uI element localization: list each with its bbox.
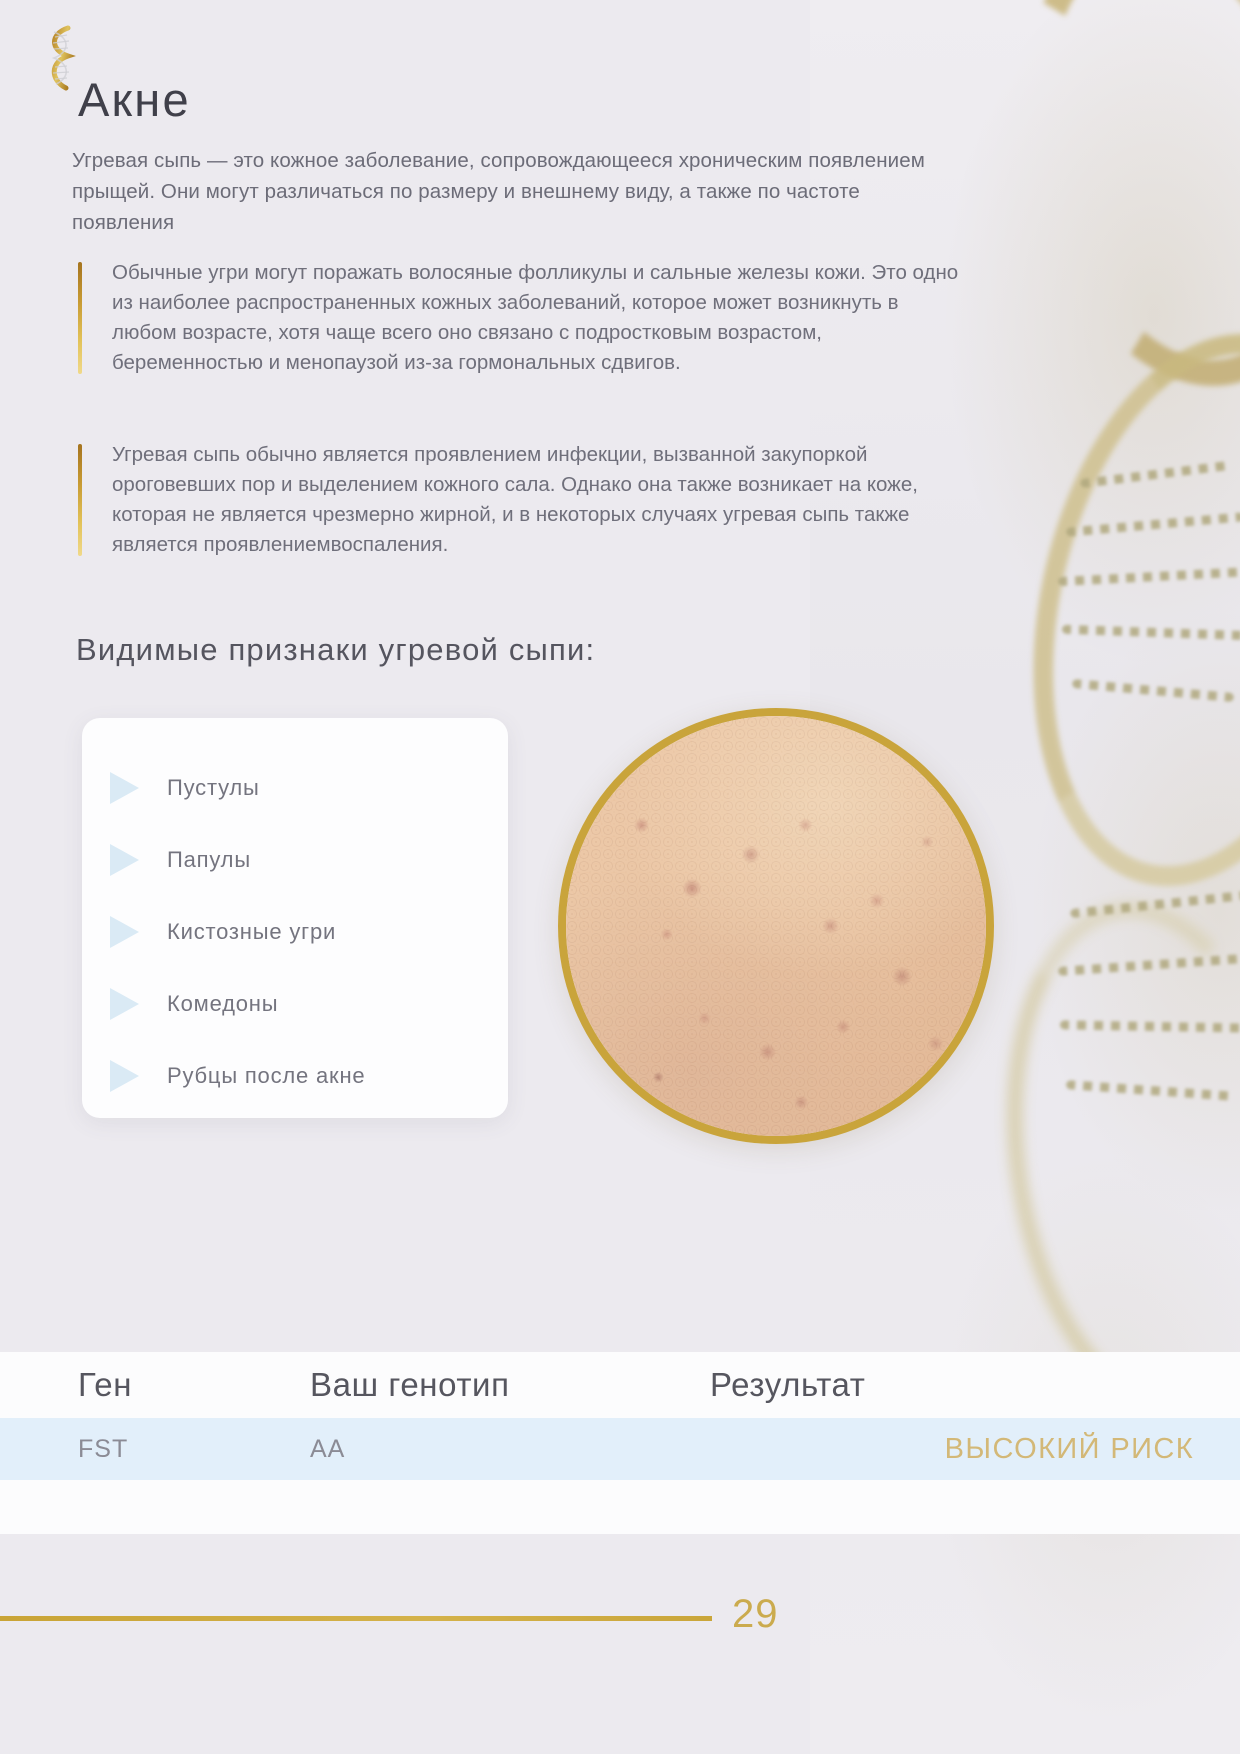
dna-rung-icon bbox=[1066, 512, 1240, 536]
list-item: Пустулы bbox=[82, 752, 508, 824]
page-number: 29 bbox=[732, 1592, 779, 1637]
dna-helix-logo bbox=[40, 22, 82, 98]
dna-rung-icon bbox=[1072, 679, 1234, 702]
list-item: Кистозные угри bbox=[82, 896, 508, 968]
quote-text: Угревая сыпь обычно является проявлением… bbox=[112, 443, 918, 556]
footer-divider bbox=[0, 1616, 712, 1621]
page-footer: 29 bbox=[0, 1520, 1240, 1754]
status-badge: ВЫСОКИЙ РИСК bbox=[710, 1433, 1240, 1466]
triangle-right-icon bbox=[110, 988, 139, 1020]
dna-rung-icon bbox=[1070, 891, 1240, 918]
dna-rung-icon bbox=[1080, 461, 1230, 488]
cell-gene: FST bbox=[0, 1435, 310, 1464]
dna-rung-icon bbox=[1058, 953, 1240, 976]
quote-block-1: Обычные угри могут поражать волосяные фо… bbox=[78, 258, 968, 378]
column-header-result: Результат bbox=[710, 1366, 1240, 1404]
dna-rung-icon bbox=[1058, 567, 1240, 586]
column-header-gene: Ген bbox=[0, 1366, 310, 1404]
skin-grain-overlay bbox=[566, 716, 986, 1136]
dna-rung-icon bbox=[1066, 1080, 1236, 1101]
triangle-right-icon bbox=[110, 1060, 139, 1092]
dna-rung-icon bbox=[1060, 1020, 1240, 1032]
symptom-label: Рубцы после акне bbox=[167, 1063, 365, 1089]
symptom-label: Комедоны bbox=[167, 991, 278, 1017]
symptom-label: Кистозные угри bbox=[167, 919, 336, 945]
symptom-label: Пустулы bbox=[167, 775, 260, 801]
symptom-label: Папулы bbox=[167, 847, 251, 873]
page-title: Акне bbox=[78, 76, 191, 123]
quote-block-2: Угревая сыпь обычно является проявлением… bbox=[78, 440, 968, 560]
dna-strand-icon bbox=[978, 0, 1240, 419]
column-header-genotype: Ваш генотип bbox=[310, 1366, 710, 1404]
quote-text: Обычные угри могут поражать волосяные фо… bbox=[112, 261, 958, 374]
acne-skin-photo bbox=[558, 708, 994, 1144]
dna-strand-icon bbox=[985, 302, 1240, 918]
cell-genotype: AA bbox=[310, 1435, 710, 1464]
triangle-right-icon bbox=[110, 916, 139, 948]
dna-rung-icon bbox=[1062, 625, 1240, 641]
table-header-row: Ген Ваш генотип Результат bbox=[0, 1352, 1240, 1418]
list-item: Комедоны bbox=[82, 968, 508, 1040]
triangle-right-icon bbox=[110, 844, 139, 876]
triangle-right-icon bbox=[110, 772, 139, 804]
symptoms-card: Пустулы Папулы Кистозные угри Комедоны Р… bbox=[82, 718, 508, 1118]
list-item: Рубцы после акне bbox=[82, 1040, 508, 1112]
results-table: Ген Ваш генотип Результат FST AA ВЫСОКИЙ… bbox=[0, 1352, 1240, 1534]
section-title-visible-signs: Видимые признаки угревой сыпи: bbox=[76, 632, 595, 668]
list-item: Папулы bbox=[82, 824, 508, 896]
intro-paragraph: Угревая сыпь — это кожное заболевание, с… bbox=[72, 145, 960, 238]
table-row: FST AA ВЫСОКИЙ РИСК bbox=[0, 1418, 1240, 1480]
document-page: Акне Угревая сыпь — это кожное заболеван… bbox=[0, 0, 1240, 1754]
